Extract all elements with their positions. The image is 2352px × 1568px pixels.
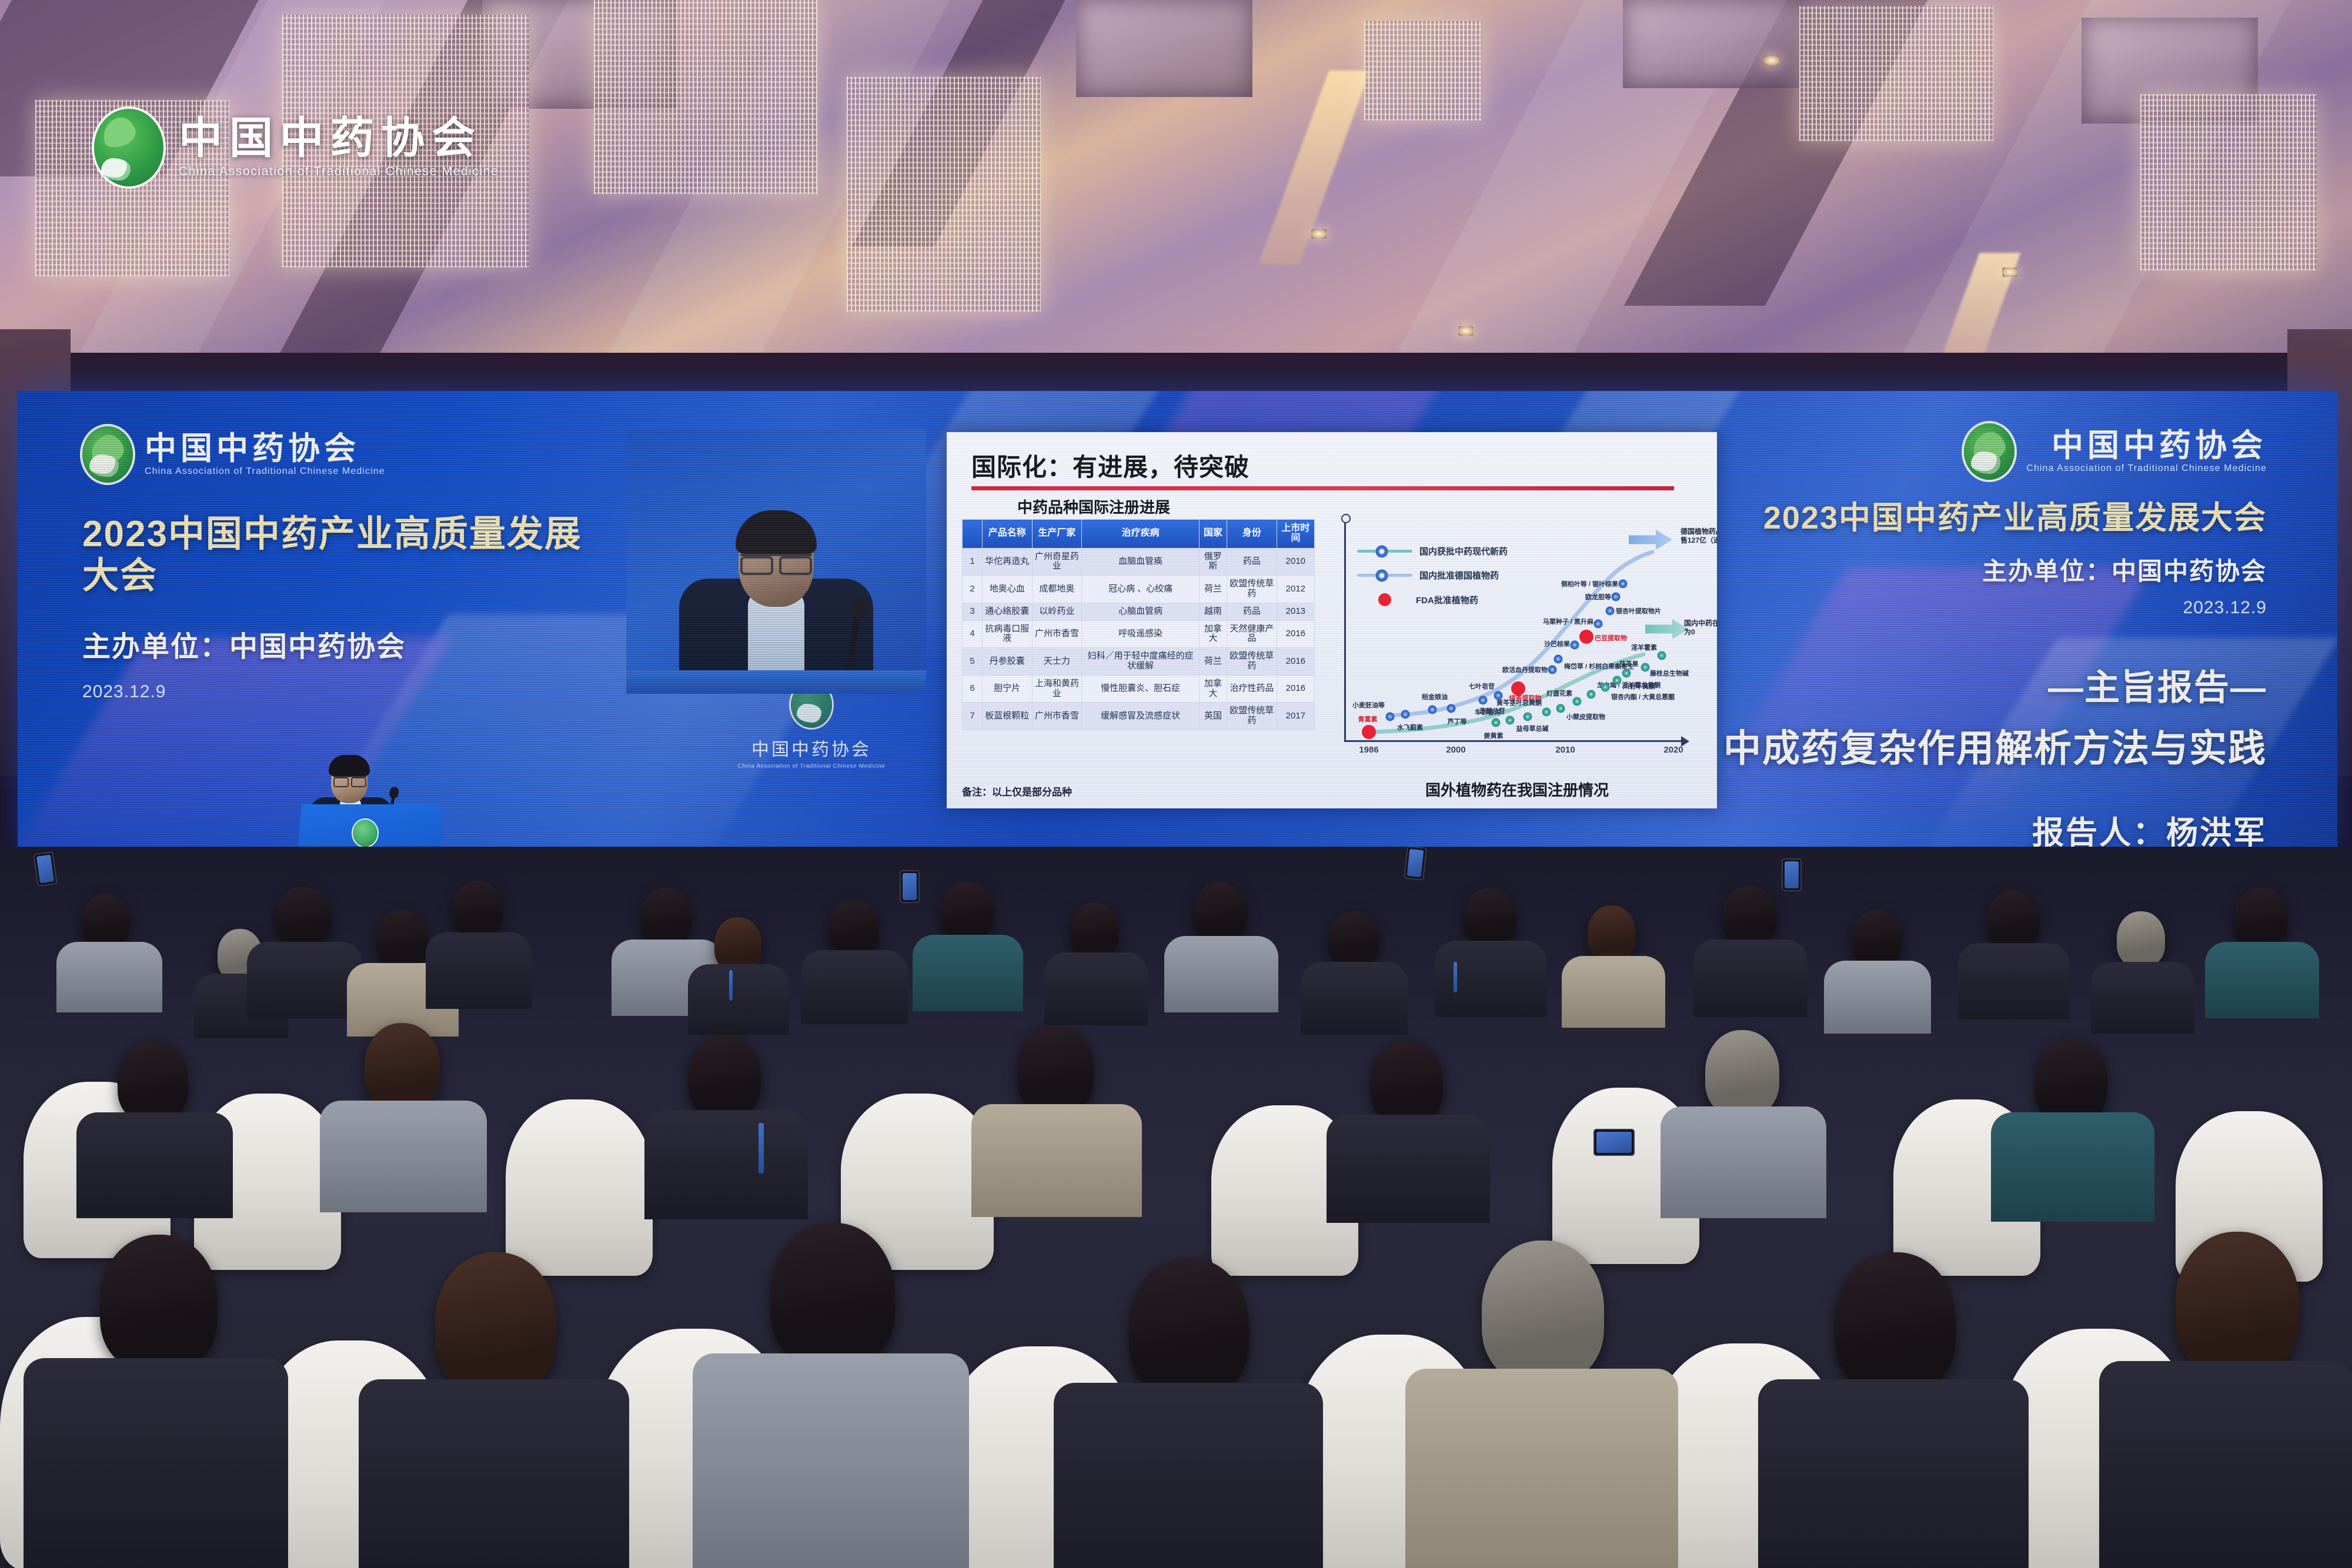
registration-table: 产品名称 生产厂家 治疗疾病 国家 身份 上市时间 1 华佗再造丸 广州奇星药业… xyxy=(962,519,1315,730)
led-right-panel: 中国中药协会 China Association of Traditional … xyxy=(1667,423,2267,853)
data-point xyxy=(1619,580,1628,589)
cat-logo-cn: 中国中药协会 xyxy=(145,432,385,464)
data-point xyxy=(1587,690,1596,699)
data-point xyxy=(1641,663,1650,672)
speaker-video-feed xyxy=(626,429,926,694)
th-country: 国家 xyxy=(1200,520,1227,549)
cat-logo-mark-icon xyxy=(82,426,133,483)
presentation-slide: 国际化：有进展，待突破 中药品种国际注册进展 产品名称 生产厂家 治疗疾病 国家… xyxy=(947,432,1717,808)
slide-title-underline xyxy=(971,486,1674,490)
table-row: 4 抗病毒口服液 广州市香雪 呼吸遥感染 加拿大 天然健康产品 2016 xyxy=(963,620,1315,648)
cat-logo-cn: 中国中药协会 xyxy=(2052,429,2267,461)
led-left-panel: 中国中药协会 China Association of Traditional … xyxy=(82,426,612,702)
stage-watermark-logo: 中国中药协会 China Association of Traditional … xyxy=(723,682,900,770)
cat-logo-mark-icon xyxy=(353,820,377,847)
stage-watermark-cn: 中国中药协会 xyxy=(723,735,900,761)
glasses-icon xyxy=(333,776,366,784)
phone-icon xyxy=(1404,847,1427,881)
report-kicker: —主旨报告— xyxy=(1667,659,2267,710)
data-point xyxy=(1612,593,1621,601)
date-left: 2023.12.9 xyxy=(82,682,612,702)
cat-logo-en: China Association of Traditional Chinese… xyxy=(2026,463,2267,474)
data-point xyxy=(1548,666,1557,674)
date-right: 2023.12.9 xyxy=(1667,598,2267,618)
data-point xyxy=(1542,708,1551,717)
phone-icon xyxy=(900,870,920,903)
data-point xyxy=(1428,706,1437,714)
data-point xyxy=(1594,620,1603,628)
chart-title: 国外植物药在我国注册情况 xyxy=(1323,778,1711,800)
data-point xyxy=(1524,713,1532,721)
microphone-icon xyxy=(846,609,861,670)
data-point xyxy=(1573,697,1582,706)
photo-watermark-logo: 中国中药协会 China Association of Traditional … xyxy=(94,109,499,186)
data-point xyxy=(1479,696,1488,705)
th-index xyxy=(963,520,983,549)
conference-title-left: 2023中国中药产业高质量发展大会 xyxy=(82,513,612,597)
data-point xyxy=(1554,655,1563,664)
slide-title: 国际化：有进展，待突破 xyxy=(971,447,1249,483)
data-point xyxy=(1492,718,1501,727)
conference-hall-photo: 中国中药协会 China Association of Traditional … xyxy=(0,0,2352,1568)
organizer-left: 主办单位：中国中药协会 xyxy=(82,623,612,664)
organizer-right: 主办单位：中国中药协会 xyxy=(1667,551,2267,587)
th-status: 身份 xyxy=(1227,520,1277,549)
table-row: 6 胆宁片 上海和黄药业 慢性胆囊炎、胆石症 加拿大 治疗性药品 2016 xyxy=(963,675,1315,703)
ceiling xyxy=(0,0,2352,388)
data-point xyxy=(1386,713,1395,721)
cat-logo-right: 中国中药协会 China Association of Traditional … xyxy=(1667,423,2267,480)
table-caption: 中药品种国际注册进展 xyxy=(1017,496,1170,517)
cat-logo-mark-icon xyxy=(94,109,163,186)
cat-logo-en: China Association of Traditional Chinese… xyxy=(145,466,385,477)
data-point xyxy=(1571,641,1579,650)
report-title: 中成药复杂作用解析方法与实践 xyxy=(1667,718,2267,773)
audience-seating xyxy=(0,847,2352,1568)
chart-plot-area: 1986 2000 2010 2020 国内获批中药现代新药 国内批准德国植物药 xyxy=(1323,510,1711,763)
data-point xyxy=(1613,676,1622,685)
data-point xyxy=(1447,704,1456,713)
table-row: 7 板蓝根颗粒 广州市香雪 缓解感冒及流感症状 英国 欧盟传统草药 2017 xyxy=(963,703,1315,730)
watermark-cn: 中国中药协会 xyxy=(179,116,499,160)
table-row: 1 华佗再造丸 广州奇星药业 血脑血管痪 俄罗斯 药品 2010 xyxy=(963,548,1315,576)
data-point xyxy=(1506,716,1515,725)
data-point xyxy=(1601,683,1610,692)
th-year: 上市时间 xyxy=(1277,520,1314,549)
phone-icon xyxy=(33,851,57,887)
table-header-row: 产品名称 生产厂家 治疗疾病 国家 身份 上市时间 xyxy=(963,520,1315,549)
data-point xyxy=(1658,651,1666,660)
data-point xyxy=(1622,669,1631,678)
data-point xyxy=(1606,607,1615,616)
th-indication: 治疗疾病 xyxy=(1082,520,1200,549)
cat-logo-left: 中国中药协会 China Association of Traditional … xyxy=(82,426,612,483)
glasses-icon xyxy=(740,554,812,569)
table-row: 2 地奥心血 成都地奥 冠心病 、心绞痛 荷兰 欧盟传统草药 2012 xyxy=(963,576,1315,603)
data-point-fda xyxy=(1579,630,1593,644)
watermark-en: China Association of Traditional Chinese… xyxy=(179,165,499,179)
table-row: 5 丹参胶囊 天士力 妇科／用于轻中度痛经的症状缓解 荷兰 欧盟传统草药 201… xyxy=(963,648,1315,676)
speaker-at-podium xyxy=(297,747,415,811)
data-point xyxy=(1556,704,1565,713)
registration-timeline-chart: 1986 2000 2010 2020 国内获批中药现代新药 国内批准德国植物药 xyxy=(1323,510,1711,804)
cat-logo-mark-icon xyxy=(1964,423,2014,480)
data-point xyxy=(1401,710,1410,719)
tablet-icon xyxy=(1593,1129,1635,1156)
conference-title-right: 2023中国中药产业高质量发展大会 xyxy=(1667,500,2267,536)
th-manufacturer: 生产厂家 xyxy=(1032,520,1082,549)
data-point-fda xyxy=(1362,725,1376,739)
chart-annotation-zero-registration: 国内中药在德国注册为0 xyxy=(1684,619,1717,637)
chart-annotation-germany-sales: 德国植物药品在国内销售127亿（近5年） xyxy=(1681,527,1717,545)
table-row: 3 通心络胶囊 以岭药业 心脑血管病 越南 药品 2013 xyxy=(963,603,1315,620)
th-product: 产品名称 xyxy=(983,520,1033,549)
phone-icon xyxy=(1782,858,1802,891)
table-note: 备注：以上仅是部分品种 xyxy=(962,784,1072,798)
stage-watermark-en: China Association of Traditional Chinese… xyxy=(723,763,900,770)
